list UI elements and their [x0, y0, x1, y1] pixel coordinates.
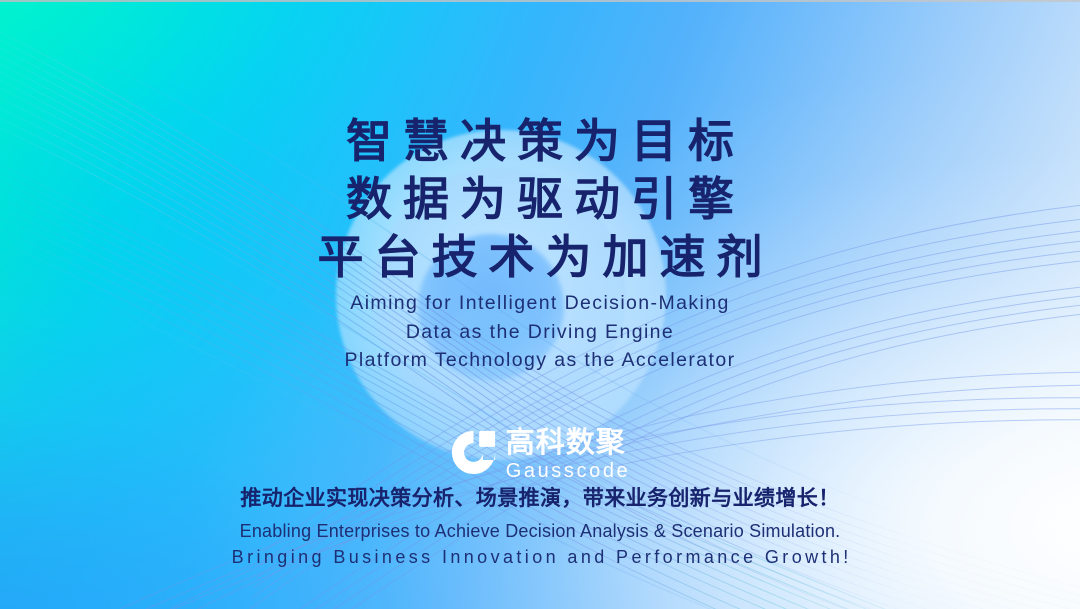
banner-content: 智慧决策为目标 数据为驱动引擎 平台技术为加速剂 Aiming for Inte… — [0, 0, 1080, 609]
subheadline-line-1: Aiming for Intelligent Decision-Making — [0, 289, 1080, 318]
brand-logo-wordmark: 高科数聚 Gausscode — [506, 428, 631, 483]
gausscode-logo-mark-icon — [450, 429, 497, 476]
footer-tagline-cn: 推动企业实现决策分析、场景推演，带来业务创新与业绩增长！ — [0, 484, 1080, 514]
headline-line-2: 数据为驱动引擎 — [0, 170, 1080, 228]
brand-logo-inner: 高科数聚 Gausscode — [450, 428, 631, 483]
promotional-banner: 智慧决策为目标 数据为驱动引擎 平台技术为加速剂 Aiming for Inte… — [0, 0, 1080, 609]
headline-line-1: 智慧决策为目标 — [0, 112, 1080, 170]
headline-block: 智慧决策为目标 数据为驱动引擎 平台技术为加速剂 — [0, 112, 1080, 286]
footer-tagline-en-line-1: Enabling Enterprises to Achieve Decision… — [0, 518, 1080, 544]
subheadline-line-2: Data as the Driving Engine — [0, 318, 1080, 347]
headline-line-3: 平台技术为加速剂 — [0, 228, 1080, 286]
brand-logo: 高科数聚 Gausscode — [0, 428, 1080, 483]
subheadline-line-3: Platform Technology as the Accelerator — [0, 346, 1080, 375]
footer-tagline-en-line-2: Bringing Business Innovation and Perform… — [0, 544, 1080, 570]
brand-name-cn: 高科数聚 — [506, 428, 626, 458]
footer-block: 推动企业实现决策分析、场景推演，带来业务创新与业绩增长！ Enabling En… — [0, 484, 1080, 570]
subheadline-block: Aiming for Intelligent Decision-Making D… — [0, 289, 1080, 375]
brand-name-en: Gausscode — [506, 460, 631, 483]
